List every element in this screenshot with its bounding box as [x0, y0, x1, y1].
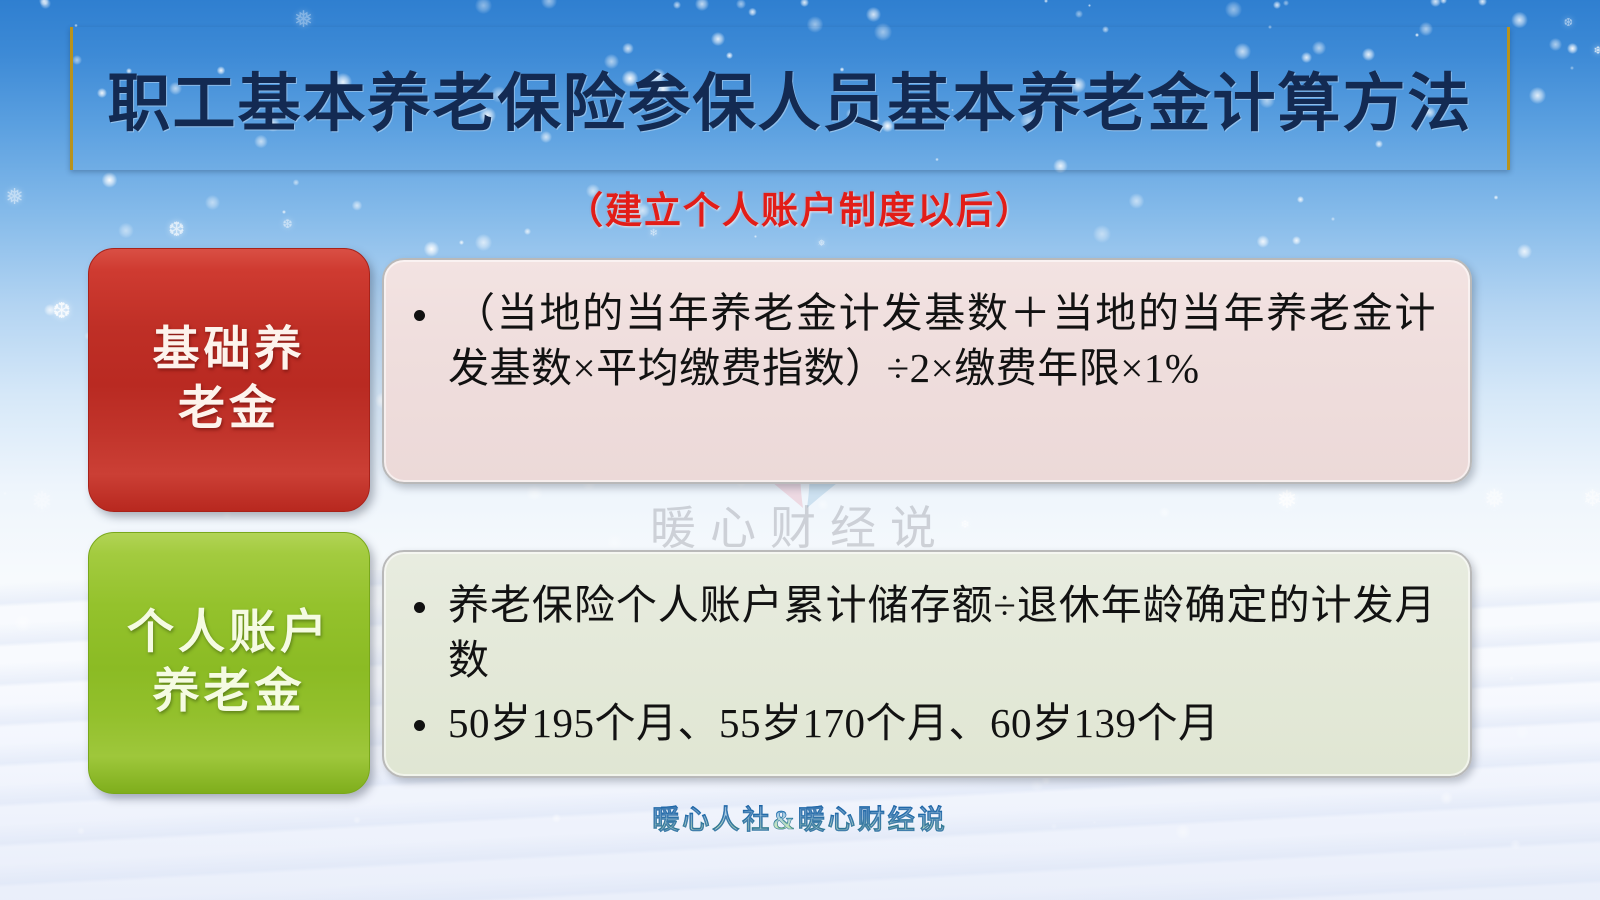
sparkle-dot	[3, 492, 6, 495]
sparkle-dot	[1257, 235, 1270, 248]
sparkle-dot	[606, 534, 623, 551]
sparkle-dot	[1567, 43, 1578, 54]
snowflake-icon: ❅	[32, 488, 53, 513]
page-subtitle: （建立个人账户制度以后）	[0, 180, 1600, 234]
sparkle-dot	[1044, 0, 1048, 3]
sparkle-dot	[866, 7, 881, 22]
sparkle-dot	[1225, 1, 1242, 18]
page-title: 职工基本养老保险参保人员基本养老金计算方法	[108, 53, 1473, 144]
sparkle-dot	[475, 0, 492, 14]
footer: 暖心人社&暖心财经说	[0, 798, 1600, 837]
panel-personal-account-pension: 养老保险个人账户累计储存额÷退休年龄确定的计发月数 50岁195个月、55岁17…	[382, 550, 1472, 778]
sparkle-dot	[1511, 12, 1527, 28]
sparkle-dot	[754, 235, 757, 238]
sparkle-dot	[1517, 244, 1532, 259]
sparkle-dot	[1283, 0, 1288, 5]
snowflake-icon: ❄	[1583, 488, 1600, 511]
sparkle-dot	[459, 240, 464, 245]
title-banner: 职工基本养老保险参保人员基本养老金计算方法	[70, 27, 1510, 170]
sparkle-dot	[1075, 10, 1083, 18]
snowflake-icon: ❅	[818, 240, 826, 249]
sparkle-dot	[1292, 236, 1301, 245]
bullet-list-basic-pension: （当地的当年养老金计发基数＋当地的当年养老金计发基数×平均缴费指数）÷2×缴费年…	[408, 286, 1436, 396]
panel-basic-pension: （当地的当年养老金计发基数＋当地的当年养老金计发基数×平均缴费指数）÷2×缴费年…	[382, 258, 1472, 484]
tag-label-basic-pension: 基础养 老金	[133, 321, 326, 439]
footer-brand-text: 暖心人社&暖心财经说	[652, 805, 948, 835]
sparkle-dot	[1529, 87, 1546, 104]
sparkle-dot	[40, 0, 51, 9]
tag-label-basic-line2: 老金	[178, 383, 280, 435]
snowflake-icon: ❆	[52, 301, 70, 323]
sparkle-dot	[356, 508, 368, 520]
sparkle-dot	[475, 234, 492, 251]
sparkle-dot	[1509, 676, 1514, 681]
sparkle-dot	[1273, 1, 1281, 9]
sparkle-dot	[748, 8, 757, 17]
sparkle-dot	[817, 499, 828, 510]
sparkle-dot	[1312, 540, 1315, 543]
snowflake-icon: ❄	[1593, 45, 1600, 56]
sparkle-dot	[1430, 0, 1442, 7]
snowflake-icon: ❄	[960, 519, 969, 530]
sparkle-dot	[1510, 839, 1522, 851]
sparkle-dot	[1030, 778, 1044, 792]
sparkle-dot	[14, 614, 32, 632]
bullet-list-personal-account-pension: 养老保险个人账户累计储存额÷退休年龄确定的计发月数 50岁195个月、55岁17…	[408, 578, 1436, 751]
sparkle-dot	[695, 0, 708, 11]
sparkle-dot	[1478, 0, 1487, 6]
bullet-item: 养老保险个人账户累计储存额÷退休年龄确定的计发月数	[408, 578, 1436, 688]
sparkle-dot	[736, 0, 746, 9]
sparkle-dot	[1549, 38, 1562, 51]
tag-label-personal-account-pension: 个人账户 养老金	[107, 604, 351, 722]
tag-label-basic-line1: 基础养	[153, 324, 306, 376]
sparkle-dot	[1570, 66, 1574, 70]
sparkle-dot	[39, 0, 49, 6]
bullet-item: 50岁195个月、55岁170个月、60岁139个月	[408, 696, 1436, 751]
tag-label-personal-line1: 个人账户	[127, 607, 331, 659]
snowflake-icon: ❆	[1564, 17, 1573, 28]
sparkle-dot	[1088, 4, 1091, 7]
sparkle-dot	[800, 0, 809, 7]
slide-canvas: ❆❅❆❅❄❅❅❆❄❄❅❆❆❅❅❄❆❅❅❆❅❆❆❆❅❆❄❆❄❆ 职工基本养老保险参…	[0, 0, 1600, 900]
sparkle-dot	[526, 484, 543, 501]
sparkle-dot	[1159, 507, 1170, 518]
tag-box-basic-pension[interactable]: 基础养 老金	[88, 248, 370, 512]
sparkle-dot	[44, 304, 56, 316]
bullet-item: （当地的当年养老金计发基数＋当地的当年养老金计发基数×平均缴费指数）÷2×缴费年…	[408, 286, 1436, 396]
sparkle-dot	[673, 1, 681, 9]
sparkle-dot	[1515, 725, 1530, 740]
tag-label-personal-line2: 养老金	[153, 666, 306, 718]
sparkle-dot	[424, 241, 440, 257]
sparkle-dot	[541, 0, 556, 9]
tag-box-personal-account-pension[interactable]: 个人账户 养老金	[88, 532, 370, 794]
snowflake-icon: ❅	[1277, 487, 1298, 512]
sparkle-dot	[1440, 0, 1447, 4]
snowflake-icon: ❅	[1484, 486, 1505, 511]
